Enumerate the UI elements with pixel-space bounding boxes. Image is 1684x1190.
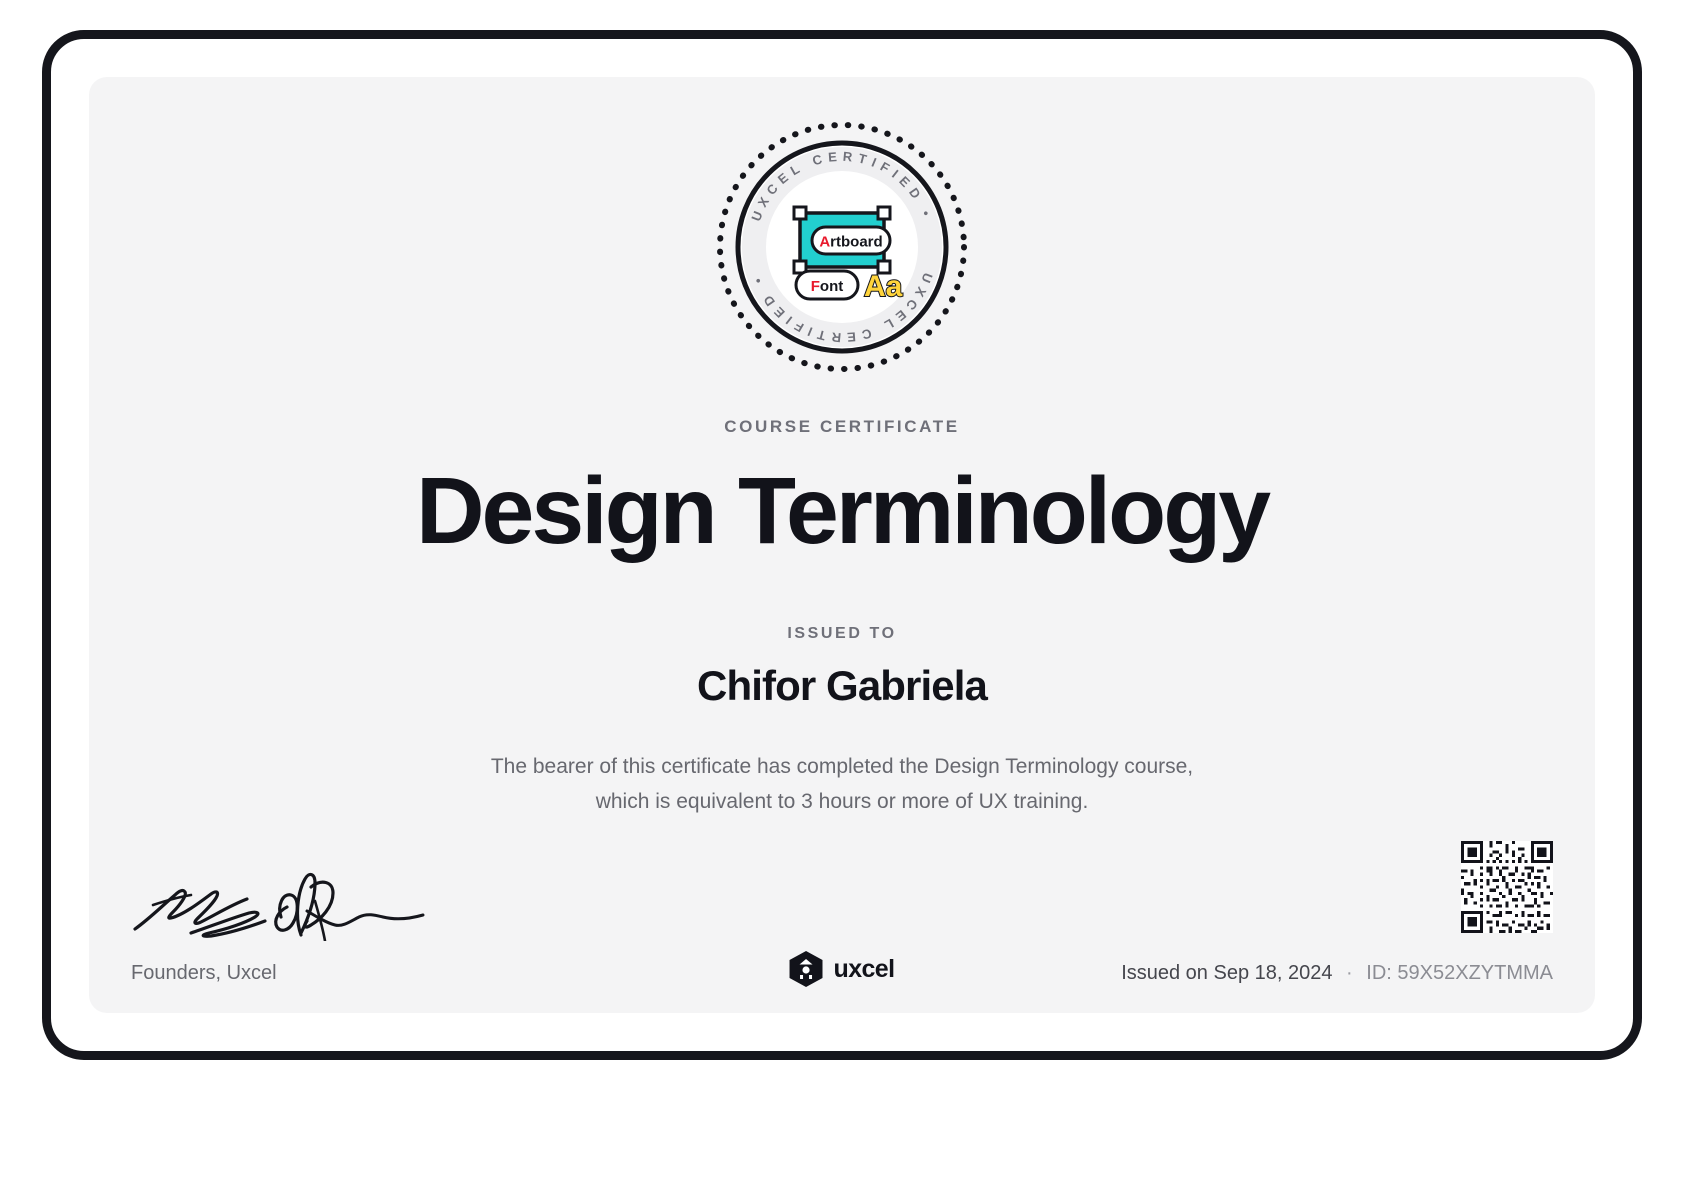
founder-signatures	[131, 861, 431, 941]
uxcel-certified-seal: UXCEL CERTIFIED • UXCEL CERTIFIED •	[712, 117, 972, 377]
founders-label: Founders, Uxcel	[131, 962, 277, 985]
font-pill-label: Font	[811, 278, 844, 295]
seal-graphic: UXCEL CERTIFIED • UXCEL CERTIFIED •	[712, 117, 972, 377]
font-sample-aa: Aa	[864, 270, 903, 303]
verification-qr-code[interactable]	[1461, 841, 1553, 933]
certificate-frame: UXCEL CERTIFIED • UXCEL CERTIFIED •	[42, 30, 1642, 1060]
certificate-footer: Founders, Uxcel uxcel Issued on Sep 18, …	[89, 813, 1595, 1013]
signatures-graphic	[131, 861, 431, 941]
issue-separator: ·	[1338, 962, 1361, 984]
font-illustration: Font Aa	[796, 270, 903, 303]
description-line-1: The bearer of this certificate has compl…	[422, 749, 1262, 784]
course-title: Design Terminology	[89, 455, 1595, 567]
issued-to-label: ISSUED TO	[89, 625, 1595, 643]
artboard-illustration: Artboard	[794, 207, 890, 273]
uxcel-logo-icon	[790, 951, 823, 987]
uxcel-brand: uxcel	[790, 951, 895, 987]
recipient-name: Chifor Gabriela	[89, 662, 1595, 710]
qr-code-graphic	[1461, 841, 1553, 933]
certificate-id: ID: 59X52XZYTMMA	[1366, 962, 1553, 984]
issued-on-text: Issued on Sep 18, 2024	[1121, 962, 1332, 984]
issue-info: Issued on Sep 18, 2024 · ID: 59X52XZYTMM…	[1121, 962, 1553, 985]
eyebrow-label: COURSE CERTIFICATE	[89, 417, 1595, 437]
artboard-pill-label: Artboard	[819, 234, 882, 251]
certificate-panel: UXCEL CERTIFIED • UXCEL CERTIFIED •	[89, 77, 1595, 1013]
certificate-description: The bearer of this certificate has compl…	[422, 749, 1262, 819]
uxcel-brand-name: uxcel	[834, 955, 895, 984]
